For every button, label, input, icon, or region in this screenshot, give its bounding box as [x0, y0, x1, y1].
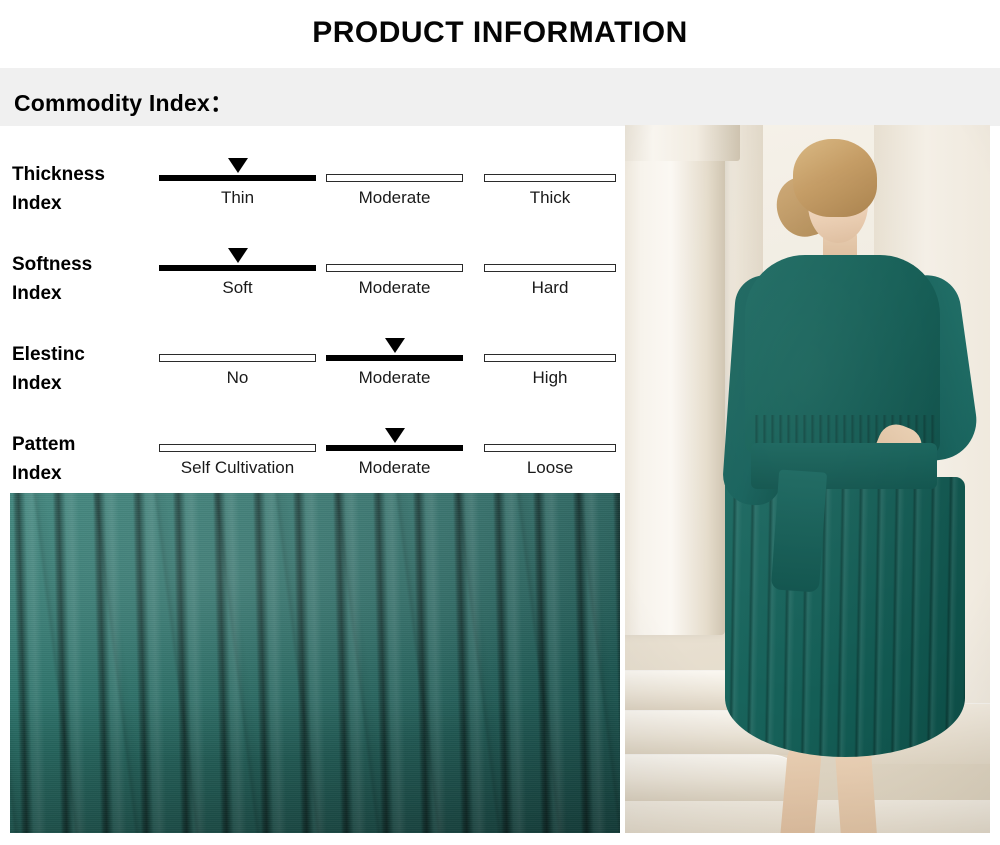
photo-vignette — [625, 125, 990, 833]
row-label-pattem: Pattem Index — [12, 430, 162, 489]
index-option-elestinc-2[interactable]: High — [480, 320, 620, 408]
index-option-softness-2[interactable]: Hard — [480, 230, 620, 318]
bar-active — [159, 265, 316, 271]
index-option-thickness-1[interactable]: Moderate — [322, 140, 467, 228]
product-information-page: PRODUCT INFORMATION Commodity Index： Thi… — [0, 0, 1000, 845]
index-option-pattem-0[interactable]: Self Cultivation — [155, 410, 320, 498]
index-option-softness-0[interactable]: Soft — [155, 230, 320, 318]
bar-track — [480, 442, 620, 454]
page-title: PRODUCT INFORMATION — [0, 16, 1000, 50]
index-row: Pattem Index Self Cultivation Moderate — [0, 410, 620, 498]
bar-inactive — [159, 444, 316, 452]
row-label-softness: Softness Index — [12, 250, 162, 309]
bar-inactive — [326, 264, 463, 272]
option-caption: High — [480, 368, 620, 388]
row-label-line-1: Thickness — [12, 160, 162, 189]
index-row: Elestinc Index No Moderate H — [0, 320, 620, 408]
fabric-swatch-photo — [10, 493, 620, 833]
fabric-shading-overlay — [10, 493, 620, 833]
row-label-line-1: Elestinc — [12, 340, 162, 369]
index-option-elestinc-0[interactable]: No — [155, 320, 320, 408]
option-caption: Loose — [480, 458, 620, 478]
index-option-pattem-2[interactable]: Loose — [480, 410, 620, 498]
bar-inactive — [484, 264, 616, 272]
bar-track — [155, 442, 320, 454]
option-caption: Thin — [155, 188, 320, 208]
option-caption: Self Cultivation — [155, 458, 320, 478]
bar-track — [480, 172, 620, 184]
bar-track — [322, 442, 467, 454]
index-option-pattem-1[interactable]: Moderate — [322, 410, 467, 498]
selection-marker-triangle-icon — [228, 158, 248, 173]
index-row: Thickness Index Thin Moderate — [0, 140, 620, 228]
row-label-line-2: Index — [12, 369, 162, 398]
bar-inactive — [484, 354, 616, 362]
bar-track — [155, 262, 320, 274]
option-caption: Moderate — [322, 188, 467, 208]
bar-active — [326, 445, 463, 451]
option-caption: Moderate — [322, 458, 467, 478]
row-label-line-1: Pattem — [12, 430, 162, 459]
row-label-line-2: Index — [12, 459, 162, 488]
bar-track — [480, 352, 620, 364]
bar-track — [322, 352, 467, 364]
bar-active — [326, 355, 463, 361]
bar-inactive — [484, 444, 616, 452]
model-photo — [625, 125, 990, 833]
option-caption: Moderate — [322, 368, 467, 388]
index-option-softness-1[interactable]: Moderate — [322, 230, 467, 318]
bar-track — [155, 172, 320, 184]
bar-inactive — [159, 354, 316, 362]
row-label-line-1: Softness — [12, 250, 162, 279]
selection-marker-triangle-icon — [385, 428, 405, 443]
row-label-thickness: Thickness Index — [12, 160, 162, 219]
index-row: Softness Index Soft Moderate — [0, 230, 620, 318]
option-caption: Thick — [480, 188, 620, 208]
bar-track — [155, 352, 320, 364]
bar-active — [159, 175, 316, 181]
bar-inactive — [326, 174, 463, 182]
section-title: Commodity Index： — [14, 84, 233, 118]
row-label-line-2: Index — [12, 189, 162, 218]
commodity-index-table: Thickness Index Thin Moderate — [0, 132, 620, 497]
index-option-thickness-2[interactable]: Thick — [480, 140, 620, 228]
row-label-line-2: Index — [12, 279, 162, 308]
option-caption: Soft — [155, 278, 320, 298]
selection-marker-triangle-icon — [228, 248, 248, 263]
index-option-elestinc-1[interactable]: Moderate — [322, 320, 467, 408]
option-caption: Moderate — [322, 278, 467, 298]
commodity-index-band: Commodity Index： — [0, 68, 1000, 126]
bar-track — [322, 172, 467, 184]
bar-track — [480, 262, 620, 274]
selection-marker-triangle-icon — [385, 338, 405, 353]
index-option-thickness-0[interactable]: Thin — [155, 140, 320, 228]
option-caption: No — [155, 368, 320, 388]
option-caption: Hard — [480, 278, 620, 298]
row-label-elestinc: Elestinc Index — [12, 340, 162, 399]
bar-track — [322, 262, 467, 274]
bar-inactive — [484, 174, 616, 182]
